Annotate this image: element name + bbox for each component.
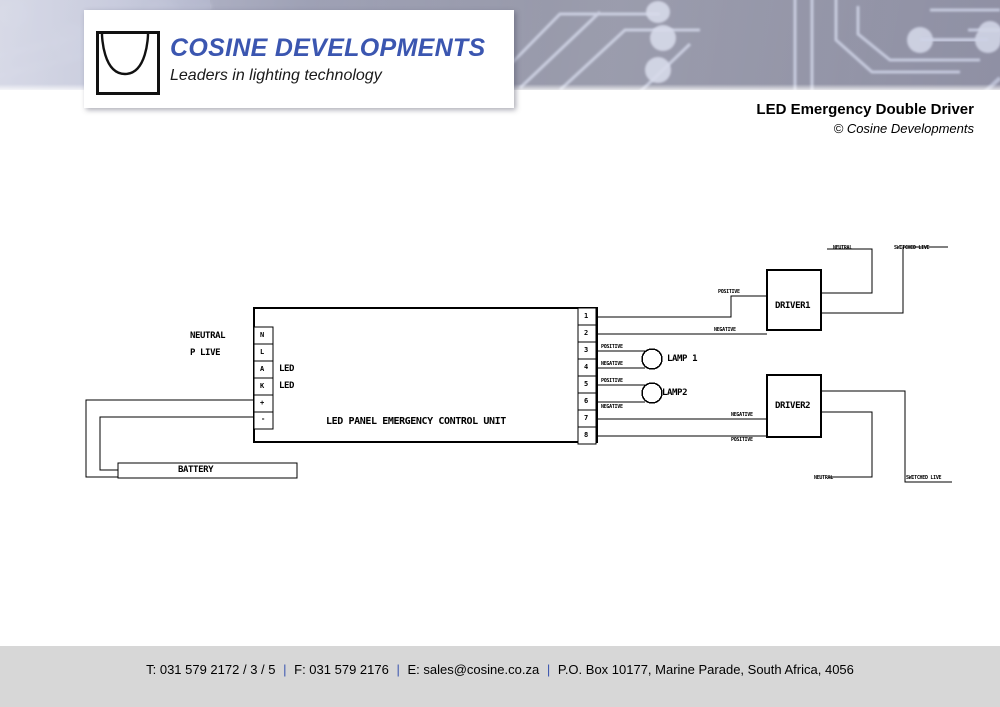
terminal-3: 3 — [584, 346, 588, 354]
terminal-l: L — [260, 348, 264, 356]
driver2-negative-label: NEGATIVE — [731, 412, 753, 418]
control-unit-label: LED PANEL EMERGENCY CONTROL UNIT — [326, 416, 506, 427]
driver1-switched-live-label: SWITCHED LIVE — [894, 245, 929, 251]
lamp2-symbol — [642, 383, 662, 403]
lamp2-label: LAMP2 — [662, 388, 687, 398]
wiring-diagram — [0, 0, 1000, 707]
driver1-neutral-label: NEUTRAL — [833, 245, 852, 251]
label-led-a: LED — [279, 364, 294, 374]
driver2-neutral-label: NEUTRAL — [814, 475, 833, 481]
terminal-8: 8 — [584, 431, 588, 439]
terminal-6: 6 — [584, 397, 588, 405]
footer-fax: F: 031 579 2176 — [294, 662, 389, 677]
lamp1-label: LAMP 1 — [667, 354, 697, 364]
footer-bar: T: 031 579 2172 / 3 / 5 | F: 031 579 217… — [0, 646, 1000, 707]
footer-separator-2: | — [392, 662, 403, 677]
terminal-2: 2 — [584, 329, 588, 337]
driver1-negative-label: NEGATIVE — [714, 327, 736, 333]
lamp2-positive-label: POSITIVE — [601, 378, 623, 384]
driver1-box — [767, 270, 821, 330]
footer-address: P.O. Box 10177, Marine Parade, South Afr… — [558, 662, 854, 677]
terminal-a: A — [260, 365, 264, 373]
driver1-label: DRIVER1 — [775, 301, 810, 311]
terminal-plus: + — [260, 399, 264, 407]
footer-contact-line: T: 031 579 2172 / 3 / 5 | F: 031 579 217… — [0, 662, 1000, 677]
footer-separator-3: | — [543, 662, 554, 677]
label-permanent-live-input: P LIVE — [190, 348, 220, 358]
terminal-4: 4 — [584, 363, 588, 371]
footer-email: E: sales@cosine.co.za — [407, 662, 539, 677]
driver2-positive-label: POSITIVE — [731, 437, 753, 443]
terminal-n: N — [260, 331, 264, 339]
lamp1-positive-label: POSITIVE — [601, 344, 623, 350]
terminal-k: K — [260, 382, 264, 390]
lamp1-symbol — [642, 349, 662, 369]
terminal-1: 1 — [584, 312, 588, 320]
driver1-positive-label: POSITIVE — [718, 289, 740, 295]
driver2-label: DRIVER2 — [775, 401, 810, 411]
driver2-switched-live-label: SWITCHED LIVE — [906, 475, 941, 481]
lamp1-negative-label: NEGATIVE — [601, 361, 623, 367]
terminal-5: 5 — [584, 380, 588, 388]
footer-phone: T: 031 579 2172 / 3 / 5 — [146, 662, 275, 677]
terminal-minus: - — [261, 415, 265, 423]
lamp2-negative-label: NEGATIVE — [601, 404, 623, 410]
terminal-7: 7 — [584, 414, 588, 422]
battery-label: BATTERY — [178, 465, 213, 475]
footer-separator-1: | — [279, 662, 290, 677]
label-led-k: LED — [279, 381, 294, 391]
label-neutral-input: NEUTRAL — [190, 331, 225, 341]
